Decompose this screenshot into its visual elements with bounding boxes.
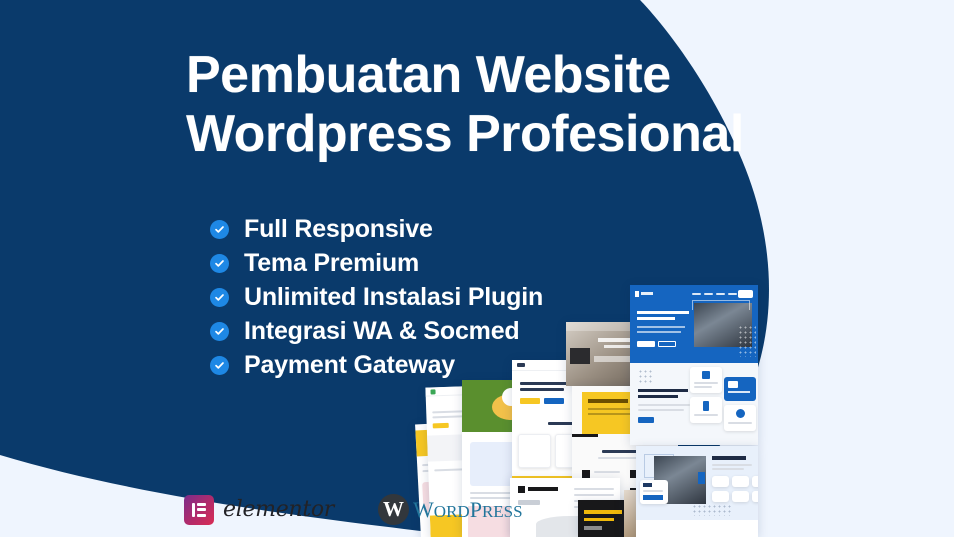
headline-line-1: Pembuatan Website	[186, 46, 671, 104]
brand-logo-strip: elementor W WORDPRESS	[184, 494, 523, 525]
wordpress-logo: W WORDPRESS	[378, 494, 523, 525]
list-item: Unlimited Instalasi Plugin	[210, 280, 543, 314]
check-circle-icon	[210, 220, 229, 239]
feature-label: Unlimited Instalasi Plugin	[244, 283, 543, 312]
feature-label: Full Responsive	[244, 215, 433, 244]
check-circle-icon	[210, 322, 229, 341]
list-item: Full Responsive	[210, 212, 543, 246]
mockup-partners	[636, 446, 758, 537]
elementor-wordmark: elementor	[223, 497, 334, 522]
wordpress-w: W	[413, 497, 434, 522]
feature-label: Payment Gateway	[244, 351, 455, 380]
feature-label: Integrasi WA & Socmed	[244, 317, 520, 346]
feature-label: Tema Premium	[244, 249, 419, 278]
wordpress-p: P	[470, 497, 482, 522]
mockup-logistics-main	[630, 285, 758, 445]
check-circle-icon	[210, 288, 229, 307]
wordpress-ord: ORD	[434, 502, 470, 521]
wordpress-wordmark: WORDPRESS	[413, 497, 523, 523]
feature-list: Full Responsive Tema Premium Unlimited I…	[210, 212, 543, 382]
wordpress-ress: RESS	[482, 502, 523, 521]
check-circle-icon	[210, 254, 229, 273]
page-title: Pembuatan Website Wordpress Profesional	[186, 46, 744, 164]
poster-canvas: Pembuatan Website Wordpress Profesional …	[0, 0, 954, 537]
elementor-logo-icon	[184, 495, 214, 525]
wordpress-logo-icon: W	[378, 494, 409, 525]
list-item: Payment Gateway	[210, 348, 543, 382]
list-item: Tema Premium	[210, 246, 543, 280]
headline-line-2: Wordpress Profesional	[186, 105, 744, 164]
check-circle-icon	[210, 356, 229, 375]
elementor-logo: elementor	[184, 495, 334, 525]
list-item: Integrasi WA & Socmed	[210, 314, 543, 348]
